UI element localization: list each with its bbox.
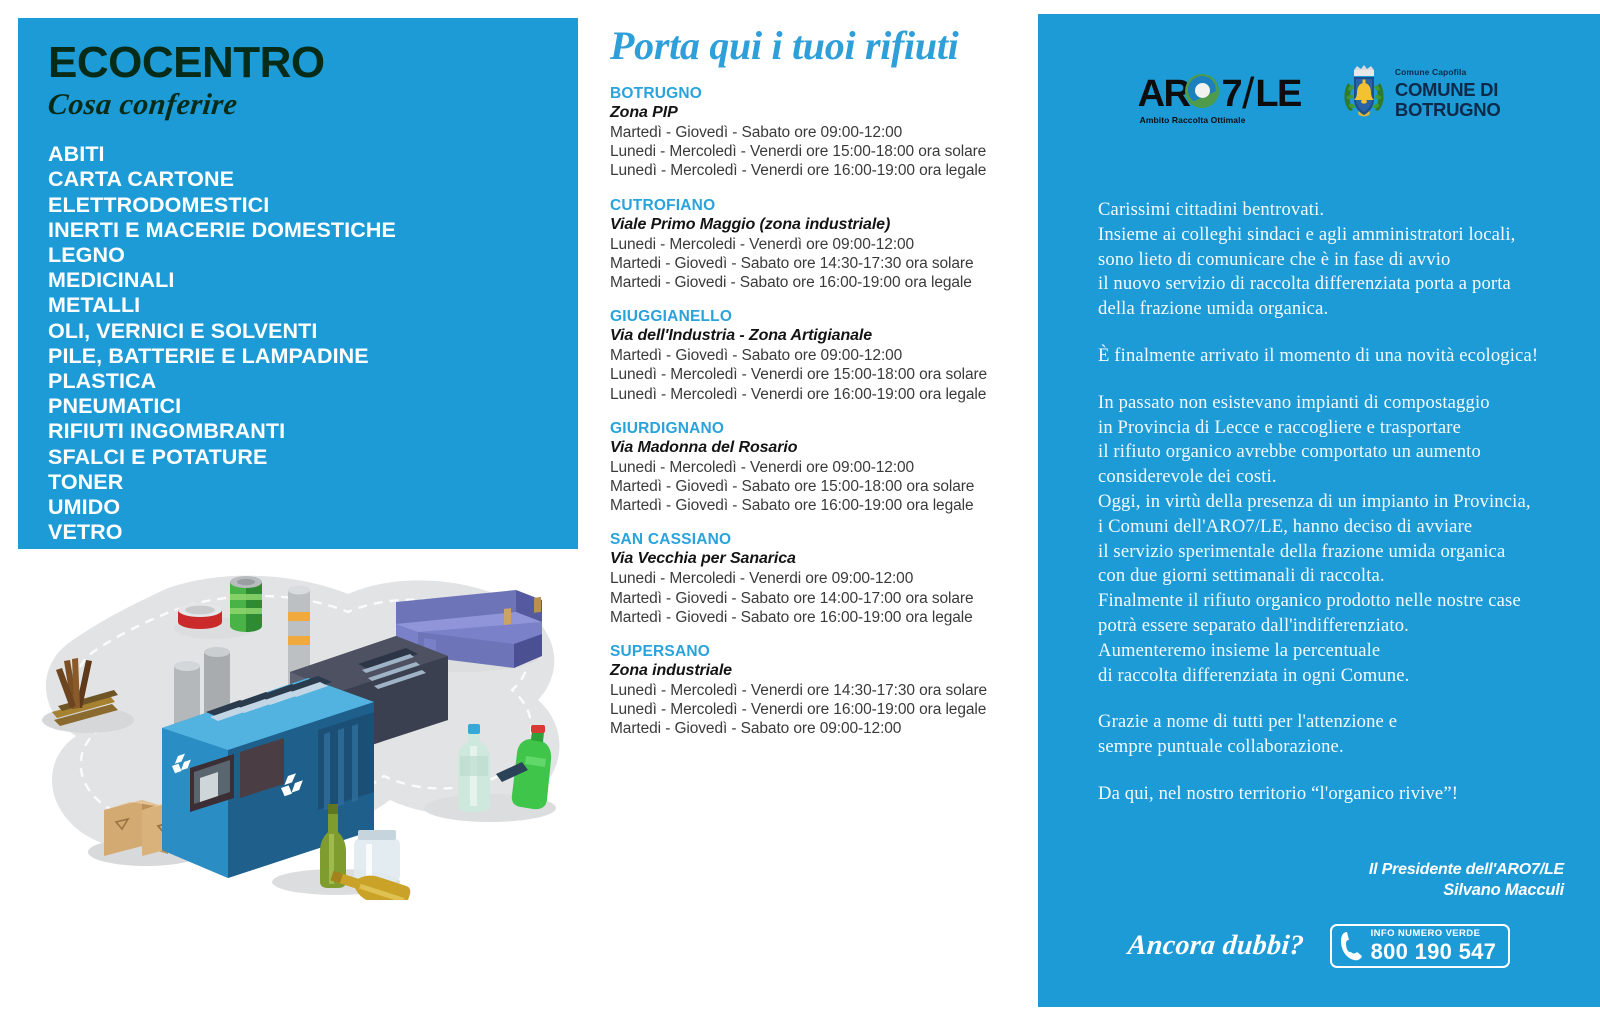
letter-line: di raccolta differenziata in ogni Comune… — [1098, 664, 1568, 689]
letter-line: il servizio sperimentale della frazione … — [1098, 540, 1568, 565]
waste-type-item: CARTA CARTONE — [48, 167, 548, 192]
aro-logo-left-text: AR — [1138, 75, 1190, 113]
location-name: GIUGGIANELLO — [610, 307, 1030, 326]
letter-line: il nuovo servizio di raccolta differenzi… — [1098, 272, 1568, 297]
location-name: SAN CASSIANO — [610, 530, 1030, 549]
waste-type-list: ABITI CARTA CARTONE ELETTRODOMESTICI INE… — [48, 142, 548, 545]
waste-type-item: PILE, BATTERIE E LAMPADINE — [48, 344, 548, 369]
waste-type-item: VETRO — [48, 520, 548, 545]
location-hour: Lunedi - Mercoledì - Venerdi ore 09:00-1… — [610, 458, 1030, 477]
location-block: GIUGGIANELLO Via dell'Industria - Zona A… — [610, 307, 1030, 404]
location-hour: Martedi - Giovedì - Sabato ore 09:00-12:… — [610, 719, 1030, 738]
letter-line: della frazione umida organica. — [1098, 297, 1568, 322]
letter-paragraph: Da qui, nel nostro territorio “l'organic… — [1098, 782, 1568, 807]
location-address: Via Vecchia per Sanarica — [610, 549, 1030, 569]
location-hour: Lunedì - Mercoledì - Venerdi ore 14:30-1… — [610, 681, 1030, 700]
waste-type-item: ELETTRODOMESTICI — [48, 193, 548, 218]
location-block: BOTRUGNO Zona PIP Martedì - Giovedì - Sa… — [610, 84, 1030, 181]
letter-line: In passato non esistevano impianti di co… — [1098, 391, 1568, 416]
comune-text: Comune Capofila COMUNE DI BOTRUGNO — [1395, 68, 1501, 120]
recycling-swirl-icon — [1185, 74, 1219, 108]
letter-paragraph: In passato non esistevano impianti di co… — [1098, 391, 1568, 689]
ecocentro-title: ECOCENTRO — [48, 40, 548, 86]
porta-qui-heading: Porta qui i tuoi rifiuti — [610, 22, 958, 69]
recycling-center-illustration — [18, 560, 588, 900]
signature-block: Il Presidente dell'ARO7/LE Silvano Maccu… — [1369, 859, 1564, 901]
location-name: SUPERSANO — [610, 642, 1030, 661]
location-hour: Lunedì - Mercoledì - Venerdi ore 15:00-1… — [610, 365, 1030, 384]
waste-type-item: LEGNO — [48, 243, 548, 268]
logo-row: AR 7 / LE Ambito Raccolta Ottimale — [1038, 58, 1600, 130]
letter-paragraph: Carissimi cittadini bentrovati. Insieme … — [1098, 198, 1568, 322]
location-name: GIURDIGNANO — [610, 419, 1030, 438]
letter-line: Da qui, nel nostro territorio “l'organic… — [1098, 782, 1568, 807]
waste-type-item: INERTI E MACERIE DOMESTICHE — [48, 218, 548, 243]
waste-type-item: MEDICINALI — [48, 268, 548, 293]
letter-line: in Provincia di Lecce e raccogliere e tr… — [1098, 416, 1568, 441]
green-number-box[interactable]: INFO NUMERO VERDE 800 190 547 — [1330, 924, 1511, 968]
location-address: Viale Primo Maggio (zona industriale) — [610, 215, 1030, 235]
location-hour: Martedi - Giovedì - Sabato ore 14:30-17:… — [610, 254, 1030, 273]
waste-type-item: RIFIUTI INGOMBRANTI — [48, 419, 548, 444]
ecocentro-panel: ECOCENTRO Cosa conferire ABITI CARTA CAR… — [18, 18, 578, 549]
right-panel: AR 7 / LE Ambito Raccolta Ottimale — [1038, 14, 1600, 1007]
letter-line: Oggi, in virtù della presenza di un impi… — [1098, 490, 1568, 515]
comune-name-label: BOTRUGNO — [1395, 100, 1501, 120]
aro-logo-slash: / — [1242, 75, 1254, 113]
left-column: ECOCENTRO Cosa conferire ABITI CARTA CAR… — [0, 0, 600, 1030]
aro-logo-subtitle: Ambito Raccolta Ottimale — [1140, 115, 1246, 125]
location-address: Via Madonna del Rosario — [610, 438, 1030, 458]
waste-type-item: UMIDO — [48, 495, 548, 520]
location-hour: Martedì - Giovedì - Sabato ore 09:00-12:… — [610, 346, 1030, 365]
green-number-texts: INFO NUMERO VERDE 800 190 547 — [1371, 929, 1497, 963]
letter-line: Aumenteremo insieme la percentuale — [1098, 639, 1568, 664]
ancora-dubbi-label: Ancora dubbi? — [1126, 930, 1305, 962]
letter-line: sono lieto di comunicare che è in fase d… — [1098, 248, 1568, 273]
location-address: Via dell'Industria - Zona Artigianale — [610, 326, 1030, 346]
signature-role: Il Presidente dell'ARO7/LE — [1369, 859, 1564, 880]
green-number-label: INFO NUMERO VERDE — [1371, 929, 1497, 939]
letter-line: i Comuni dell'ARO7/LE, hanno deciso di a… — [1098, 515, 1568, 540]
location-block: SAN CASSIANO Via Vecchia per Sanarica Lu… — [610, 530, 1030, 627]
waste-type-item: PLASTICA — [48, 369, 548, 394]
letter-line: considerevole dei costi. — [1098, 465, 1568, 490]
middle-column: Porta qui i tuoi rifiuti BOTRUGNO Zona P… — [600, 0, 1030, 1030]
letter-line: È finalmente arrivato il momento di una … — [1098, 344, 1568, 369]
letter-line: il rifiuto organico avrebbe comportato u… — [1098, 440, 1568, 465]
location-address: Zona industriale — [610, 661, 1030, 681]
phone-icon — [1340, 931, 1364, 961]
location-hour: Lunedi - Mercoledi - Venerdì ore 09:00-1… — [610, 235, 1030, 254]
letter-line: con due giorni settimanali di raccolta. — [1098, 564, 1568, 589]
location-hour: Lunedi - Mercoledi - Venerdi ore 09:00-1… — [610, 569, 1030, 588]
comune-di-label: COMUNE DI — [1395, 80, 1501, 100]
signature-name: Silvano Macculi — [1369, 880, 1564, 901]
location-hour: Lunedi - Mercoledì - Venerdi ore 15:00-1… — [610, 142, 1030, 161]
location-address: Zona PIP — [610, 103, 1030, 123]
locations-list: BOTRUGNO Zona PIP Martedì - Giovedì - Sa… — [610, 84, 1030, 754]
aro7le-logo: AR 7 / LE Ambito Raccolta Ottimale — [1138, 75, 1301, 113]
waste-type-item: TONER — [48, 470, 548, 495]
location-hour: Lunedì - Mercoledì - Venerdi ore 16:00-1… — [610, 700, 1030, 719]
letter-paragraph: È finalmente arrivato il momento di una … — [1098, 344, 1568, 369]
location-name: CUTROFIANO — [610, 196, 1030, 215]
green-number-value: 800 190 547 — [1371, 941, 1497, 963]
waste-type-item: OLI, VERNICI E SOLVENTI — [48, 319, 548, 344]
waste-type-item: ABITI — [48, 142, 548, 167]
letter-line: potrà essere separato dall'indifferenzia… — [1098, 614, 1568, 639]
comune-logo: Comune Capofila COMUNE DI BOTRUGNO — [1341, 63, 1501, 125]
waste-type-item: PNEUMATICI — [48, 394, 548, 419]
contact-bar: Ancora dubbi? INFO NUMERO VERDE 800 190 … — [1038, 923, 1600, 969]
location-block: GIURDIGNANO Via Madonna del Rosario Lune… — [610, 419, 1030, 516]
comune-capofila-label: Comune Capofila — [1395, 68, 1501, 77]
ecocentro-subtitle: Cosa conferire — [46, 88, 550, 122]
letter-paragraph: Grazie a nome di tutti per l'attenzione … — [1098, 710, 1568, 760]
location-block: SUPERSANO Zona industriale Lunedì - Merc… — [610, 642, 1030, 739]
location-hour: Martedì - Giovedi - Sabato ore 16:00-19:… — [610, 608, 1030, 627]
location-hour: Martedì - Giovedì - Sabato ore 15:00-18:… — [610, 477, 1030, 496]
location-hour: Martedì - Giovedì - Sabato ore 09:00-12:… — [610, 123, 1030, 142]
location-name: BOTRUGNO — [610, 84, 1030, 103]
letter-line: sempre puntuale collaborazione. — [1098, 735, 1568, 760]
location-hour: Lunedì - Mercoledì - Venerdi ore 16:00-1… — [610, 385, 1030, 404]
aro-logo-seven: 7 — [1221, 75, 1241, 113]
comune-coat-of-arms-icon — [1341, 63, 1387, 125]
waste-type-item: SFALCI E POTATURE — [48, 445, 548, 470]
president-letter: Carissimi cittadini bentrovati. Insieme … — [1098, 198, 1568, 807]
letter-line: Grazie a nome di tutti per l'attenzione … — [1098, 710, 1568, 735]
location-hour: Lunedì - Mercoledì - Venerdi ore 16:00-1… — [610, 161, 1030, 180]
aro-logo-le: LE — [1255, 75, 1301, 113]
location-hour: Martedì - Giovedi - Sabato ore 14:00-17:… — [610, 589, 1030, 608]
letter-line: Insieme ai colleghi sindaci e agli ammin… — [1098, 223, 1568, 248]
waste-type-item: METALLI — [48, 293, 548, 318]
location-hour: Martedì - Giovedì - Sabato ore 16:00-19:… — [610, 496, 1030, 515]
location-block: CUTROFIANO Viale Primo Maggio (zona indu… — [610, 196, 1030, 293]
location-hour: Martedi - Giovedi - Sabato ore 16:00-19:… — [610, 273, 1030, 292]
letter-line: Finalmente il rifiuto organico prodotto … — [1098, 589, 1568, 614]
letter-line: Carissimi cittadini bentrovati. — [1098, 198, 1568, 223]
